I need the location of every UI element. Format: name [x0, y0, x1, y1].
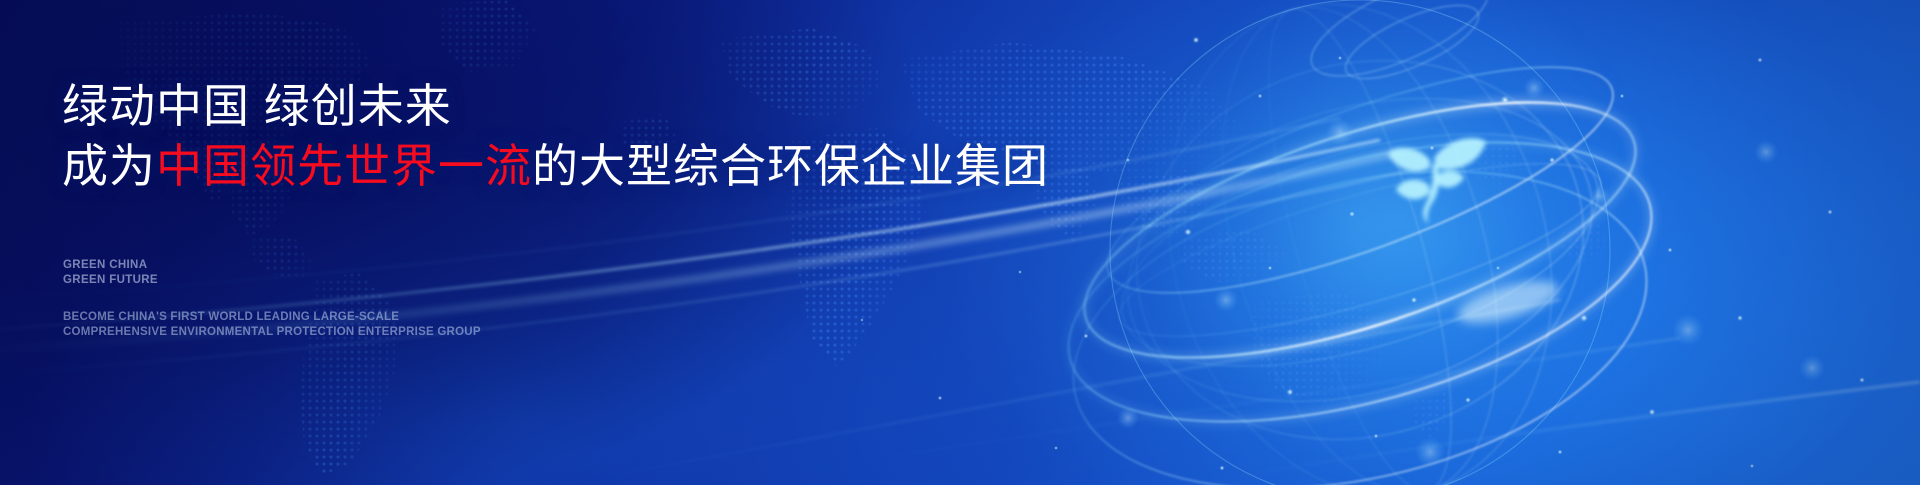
headline: 绿动中国 绿创未来 成为中国领先世界一流的大型综合环保企业集团: [62, 76, 1049, 196]
subcopy-line-2: COMPREHENSIVE ENVIRONMENTAL PROTECTION E…: [63, 325, 481, 340]
tagline: GREEN CHINA GREEN FUTURE: [63, 258, 158, 287]
headline-line-2: 成为中国领先世界一流的大型综合环保企业集团: [62, 136, 1049, 196]
vignette-overlay: [0, 0, 1920, 485]
headline-highlight: 中国领先世界一流: [156, 140, 532, 192]
background-wash: [0, 0, 1920, 485]
subcopy-line-1: BECOME CHINA'S FIRST WORLD LEADING LARGE…: [63, 310, 481, 325]
subcopy: BECOME CHINA'S FIRST WORLD LEADING LARGE…: [63, 310, 481, 339]
light-streaks: [0, 0, 1920, 485]
dotted-world-map: [0, 0, 1920, 485]
copy-block: 绿动中国 绿创未来 成为中国领先世界一流的大型综合环保企业集团 GREEN CH…: [62, 0, 1062, 485]
wireframe-globe: [1040, 0, 1680, 485]
headline-line-1: 绿动中国 绿创未来: [62, 76, 1049, 136]
headline-suffix: 的大型综合环保企业集团: [532, 140, 1049, 192]
bokeh-particles: [0, 0, 1920, 485]
headline-prefix: 成为: [62, 140, 156, 192]
globe-glow: [1130, 0, 1650, 480]
sprout-icon: [1372, 120, 1490, 230]
hero-banner: 绿动中国 绿创未来 成为中国领先世界一流的大型综合环保企业集团 GREEN CH…: [0, 0, 1920, 485]
tagline-line-2: GREEN FUTURE: [63, 273, 158, 288]
tagline-line-1: GREEN CHINA: [63, 258, 158, 273]
